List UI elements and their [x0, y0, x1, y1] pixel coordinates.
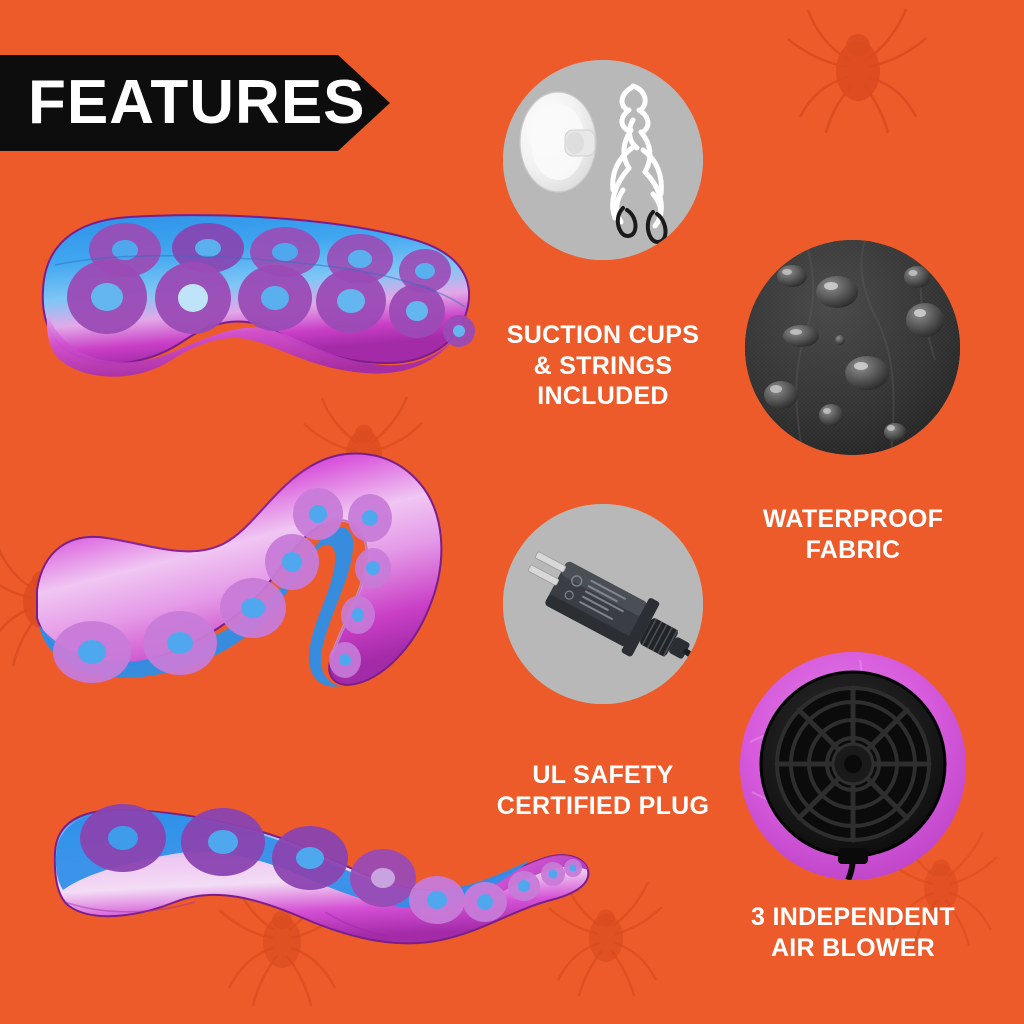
spider-icon	[300, 395, 425, 520]
waterproof-fabric-image	[745, 240, 960, 455]
inflatable-tentacle-curved-photo	[25, 440, 465, 705]
features-poster: FEATURES	[0, 0, 1024, 1024]
page-title: FEATURES	[28, 72, 366, 134]
spider-icon	[215, 880, 345, 1010]
ul-plug-image	[503, 504, 703, 704]
spider-icon	[0, 540, 105, 670]
inflatable-tentacle-top-photo	[35, 195, 485, 400]
suction-cups-caption: SUCTION CUPS & STRINGS INCLUDED	[445, 320, 761, 412]
suction-cups-image	[503, 60, 703, 260]
air-blower-caption: 3 INDEPENDENT AIR BLOWER	[700, 902, 1006, 963]
waterproof-fabric-caption: WATERPROOF FABRIC	[720, 504, 986, 565]
features-banner: FEATURES	[0, 55, 390, 151]
ul-plug-caption: UL SAFETY CERTIFIED PLUG	[440, 760, 766, 821]
spider-icon	[780, 5, 930, 135]
air-blower-image	[740, 652, 966, 880]
spider-icon	[545, 880, 665, 1000]
